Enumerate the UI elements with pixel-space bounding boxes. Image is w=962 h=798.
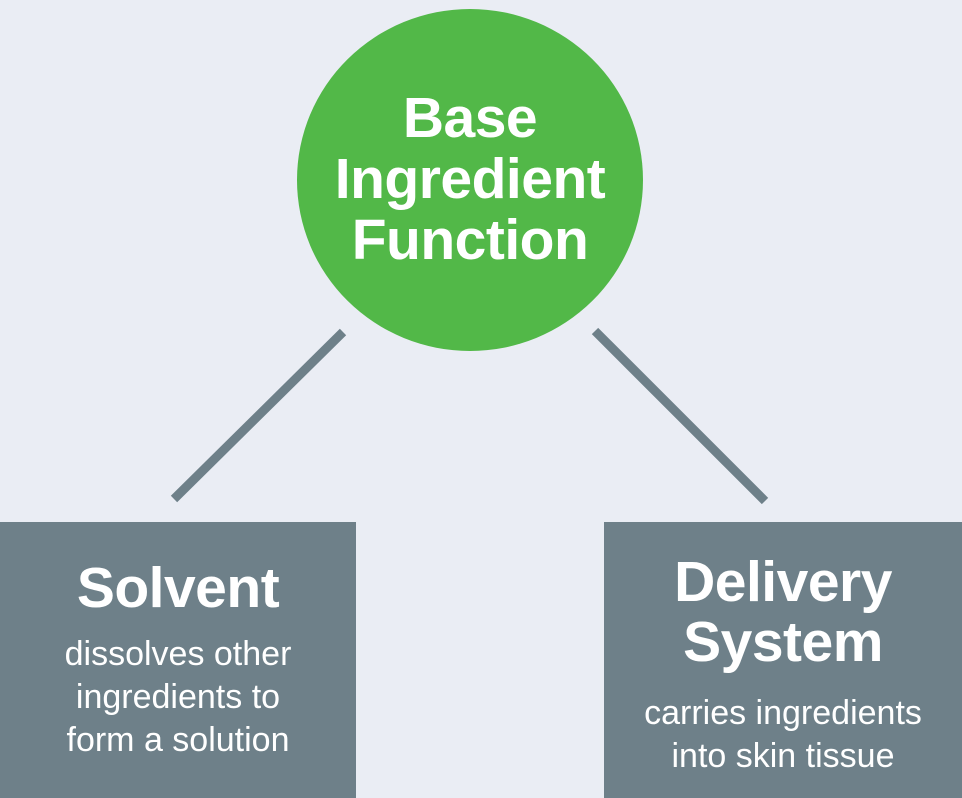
diagram-canvas: Base Ingredient Function Solvent dissolv… xyxy=(0,0,962,798)
connector-root-to-delivery-system xyxy=(595,331,765,501)
root-node-base-ingredient-function[interactable]: Base Ingredient Function xyxy=(297,9,643,351)
child-node-solvent[interactable]: Solvent dissolves other ingredients to f… xyxy=(0,522,356,798)
connector-root-to-solvent xyxy=(174,332,343,499)
child-node-delivery-system-title: Delivery System xyxy=(674,552,892,672)
child-node-delivery-system-description: carries ingredients into skin tissue xyxy=(644,692,922,778)
child-node-solvent-title: Solvent xyxy=(77,558,279,618)
child-node-solvent-description: dissolves other ingredients to form a so… xyxy=(65,633,292,762)
root-node-title: Base Ingredient Function xyxy=(335,88,606,273)
child-node-delivery-system[interactable]: Delivery System carries ingredients into… xyxy=(604,522,962,798)
